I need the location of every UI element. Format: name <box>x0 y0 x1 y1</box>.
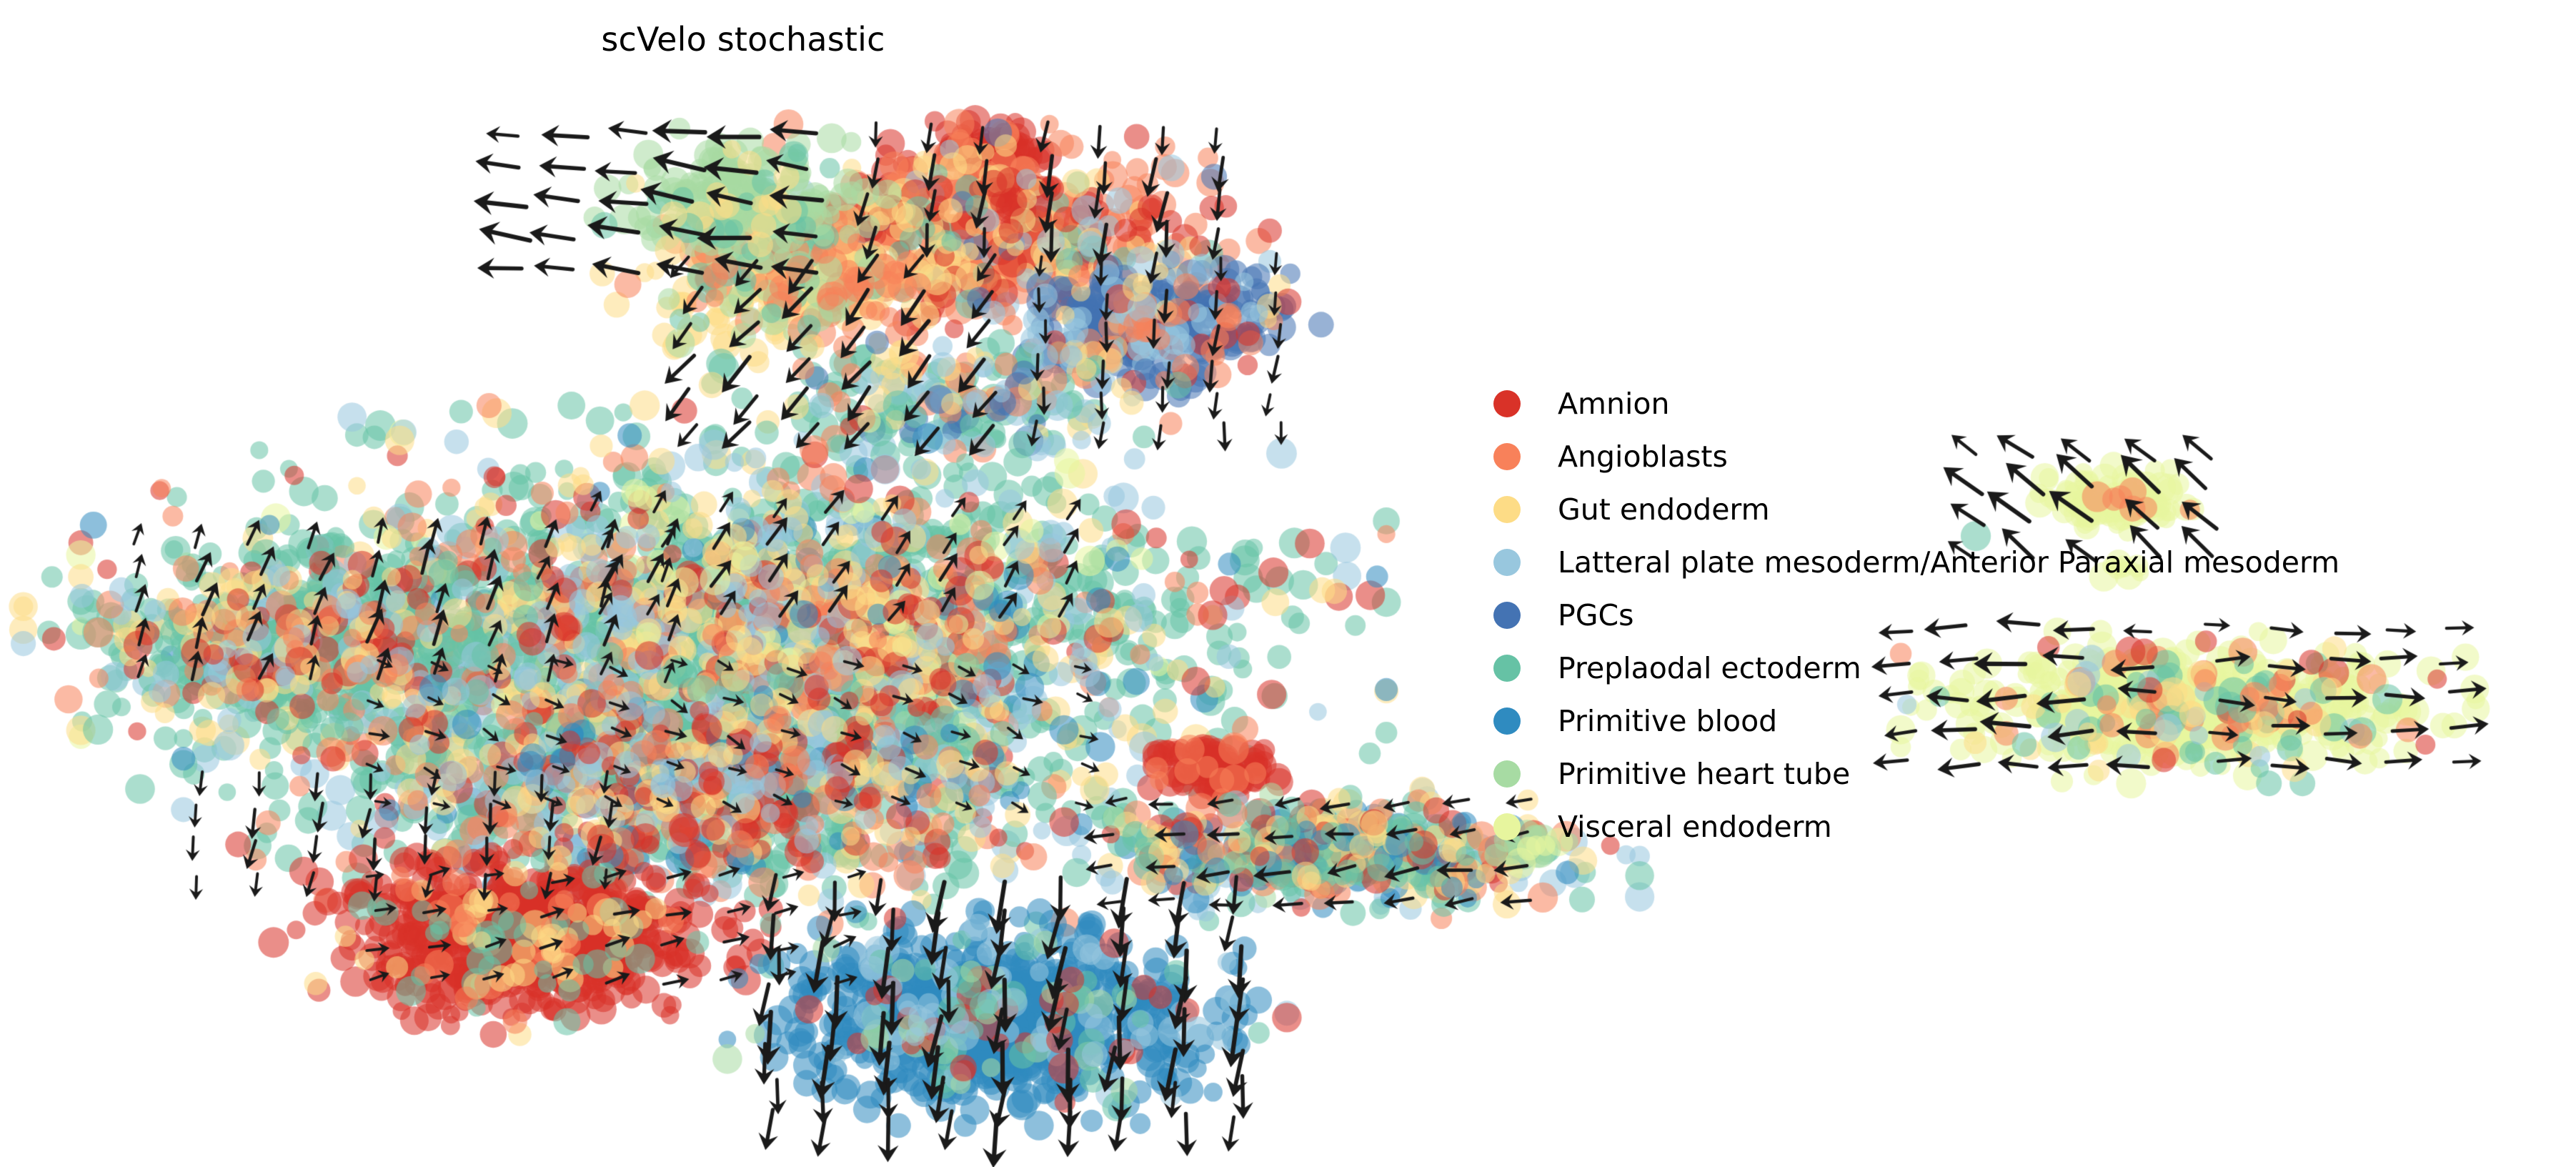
legend-marker-dot <box>1493 707 1521 735</box>
legend-item[interactable]: Amnion <box>1493 377 2565 430</box>
legend-marker-dot <box>1493 496 1521 523</box>
legend-item-label: Gut endoderm <box>1558 495 1770 525</box>
legend-item[interactable]: Preplaodal ectoderm <box>1493 642 2565 695</box>
legend-marker-dot <box>1493 813 1521 840</box>
legend-item-label: Angioblasts <box>1558 442 1728 472</box>
legend-item-label: Primitive heart tube <box>1558 760 1850 789</box>
legend-marker-dot <box>1493 443 1521 470</box>
legend-item-label: Preplaodal ectoderm <box>1558 654 1861 683</box>
legend-item[interactable]: PGCs <box>1493 589 2565 642</box>
legend-item-label: Amnion <box>1558 389 1669 419</box>
legend-item-label: Primitive blood <box>1558 707 1777 736</box>
legend-item[interactable]: Primitive heart tube <box>1493 748 2565 800</box>
legend: AmnionAngioblastsGut endodermLatteral pl… <box>1493 377 2565 853</box>
legend-marker-dot <box>1493 602 1521 629</box>
legend-item-label: PGCs <box>1558 601 1633 630</box>
legend-item-label: Visceral endoderm <box>1558 813 1832 842</box>
legend-item[interactable]: Angioblasts <box>1493 430 2565 483</box>
scvelo-figure: scVelo stochastic AmnionAngioblastsGut e… <box>0 0 2576 1167</box>
legend-item[interactable]: Gut endoderm <box>1493 483 2565 536</box>
legend-marker-dot <box>1493 655 1521 682</box>
legend-item[interactable]: Latteral plate mesoderm/Anterior Paraxia… <box>1493 536 2565 589</box>
legend-marker-dot <box>1493 760 1521 788</box>
legend-item-label: Latteral plate mesoderm/Anterior Paraxia… <box>1558 548 2339 577</box>
legend-item[interactable]: Visceral endoderm <box>1493 800 2565 853</box>
legend-marker-dot <box>1493 390 1521 417</box>
legend-marker-dot <box>1493 549 1521 576</box>
legend-item[interactable]: Primitive blood <box>1493 695 2565 748</box>
